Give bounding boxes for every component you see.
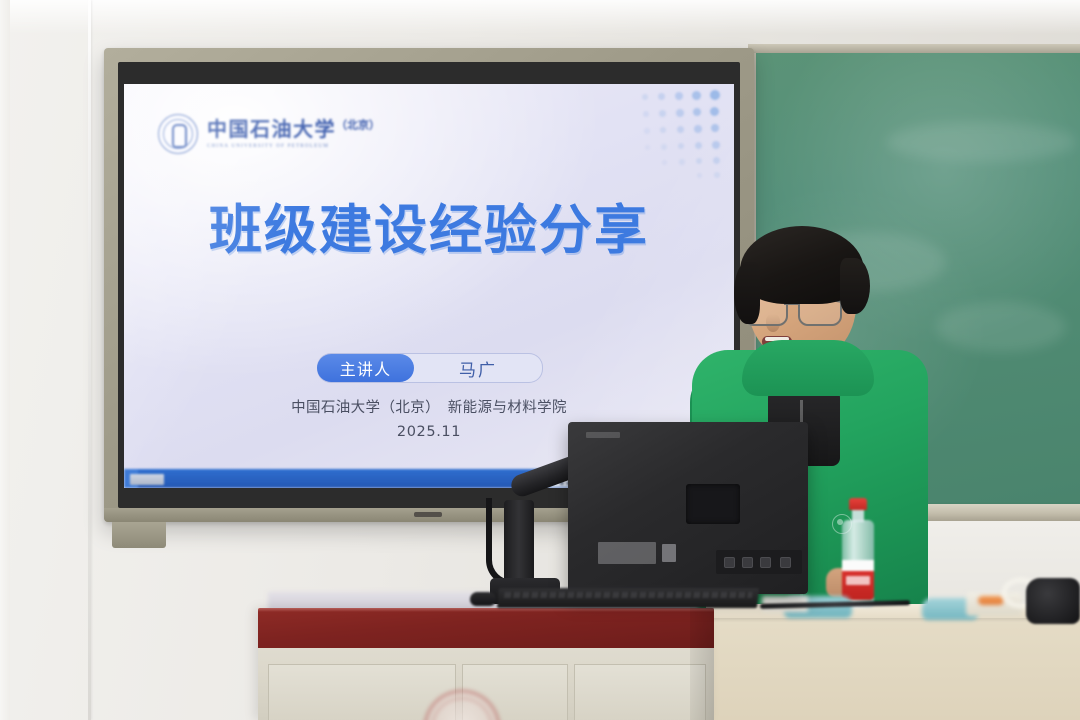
monitor-vesa-plate bbox=[686, 484, 740, 524]
camera-bag bbox=[1026, 578, 1080, 624]
speaker-name: 马广 bbox=[414, 356, 542, 381]
monitor-port bbox=[742, 557, 753, 568]
monitor-port bbox=[780, 557, 791, 568]
keyboard-keys bbox=[504, 592, 753, 598]
university-seal-icon bbox=[158, 114, 198, 154]
wall-edge-left bbox=[0, 0, 10, 720]
hair-left-side bbox=[734, 262, 760, 324]
lectern-side-shadow bbox=[690, 608, 714, 720]
screen-watermark bbox=[130, 474, 164, 485]
bottle-label-text bbox=[846, 576, 870, 585]
hair-right-side bbox=[840, 258, 870, 314]
university-name-en: CHINA UNIVERSITY OF PETROLEUM bbox=[207, 143, 380, 149]
jacket-hood bbox=[742, 340, 874, 396]
desktop-monitor bbox=[568, 422, 808, 594]
bottle-neck bbox=[852, 510, 864, 522]
chalkboard-top-trim bbox=[748, 44, 1080, 53]
decorative-dot-grid bbox=[640, 90, 726, 182]
lectern-top-trim bbox=[258, 608, 714, 648]
display-wall-mount bbox=[112, 522, 166, 548]
keyboard[interactable] bbox=[497, 588, 759, 608]
monitor-port-panel bbox=[716, 550, 802, 574]
ceiling-shadow bbox=[0, 0, 1080, 34]
wall-seam bbox=[88, 0, 91, 720]
chalk-smudge bbox=[886, 122, 1076, 162]
slide-title: 班级建设经验分享 bbox=[124, 188, 734, 264]
slide-affiliation: 中国石油大学（北京） 新能源与材料学院 bbox=[124, 396, 734, 417]
lectern-panel-right bbox=[574, 664, 706, 720]
side-desk bbox=[706, 612, 1080, 720]
monitor-barcode-label bbox=[662, 544, 676, 562]
monitor-port bbox=[724, 557, 735, 568]
monitor-brand-logo bbox=[586, 432, 620, 438]
university-name-block: 中国石油大学（北京） CHINA UNIVERSITY OF PETROLEUM bbox=[207, 120, 380, 149]
monitor-spec-label bbox=[598, 542, 656, 564]
bottle-cap bbox=[849, 498, 867, 510]
mouse[interactable] bbox=[470, 592, 496, 606]
monitor-port bbox=[760, 557, 771, 568]
lectern-top-highlight bbox=[258, 608, 714, 612]
presentation-slide: 中国石油大学（北京） CHINA UNIVERSITY OF PETROLEUM… bbox=[124, 84, 734, 469]
water-bottle bbox=[842, 498, 874, 608]
display-brand-badge bbox=[414, 512, 442, 517]
speaker-pill: 主讲人 马广 bbox=[317, 353, 543, 383]
speaker-role-badge: 主讲人 bbox=[317, 354, 414, 382]
university-logo-lockup: 中国石油大学（北京） CHINA UNIVERSITY OF PETROLEUM bbox=[158, 114, 380, 154]
bottle-label bbox=[842, 560, 874, 600]
university-name-cn: 中国石油大学（北京） bbox=[207, 120, 380, 140]
chalk-stick bbox=[978, 596, 1004, 605]
chalk-smudge bbox=[936, 302, 1066, 352]
classroom-photo-scene: 中国石油大学（北京） CHINA UNIVERSITY OF PETROLEUM… bbox=[0, 0, 1080, 720]
